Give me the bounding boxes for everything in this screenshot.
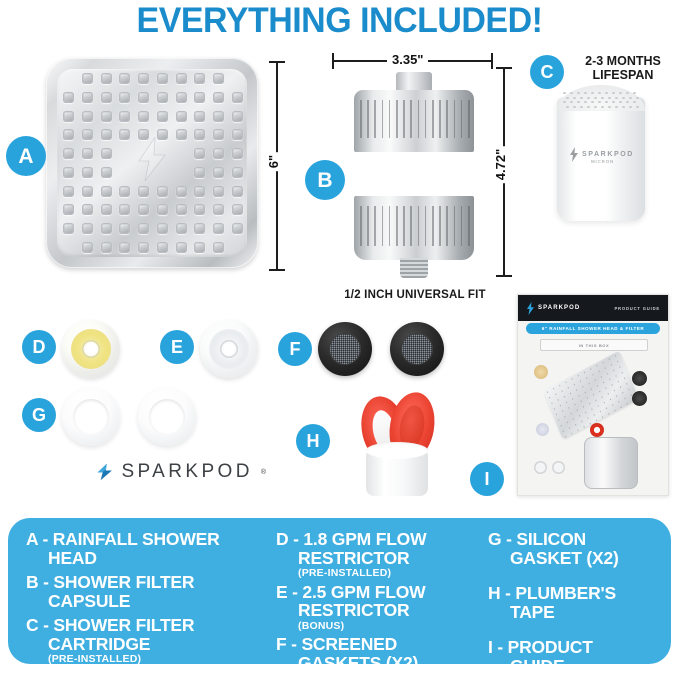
legend-item-key: H - PLUMBER'S: [488, 583, 616, 603]
capsule-fin: [439, 206, 441, 246]
nozzle: [101, 92, 112, 103]
nozzle: [138, 111, 149, 122]
nozzle: [63, 148, 74, 159]
nozzle: [138, 92, 149, 103]
legend-item: D - 1.8 GPM FLOWRESTRICTOR(PRE-INSTALLED…: [276, 530, 488, 580]
nozzle: [157, 223, 168, 234]
nozzle: [119, 186, 130, 197]
rainfall-shower-head-image: [46, 58, 258, 268]
capsule-fin: [418, 100, 420, 138]
callout-badge-a: A: [6, 136, 46, 176]
cartridge-hole: [612, 101, 615, 103]
nozzle: [194, 242, 205, 253]
guide-in-this-box-text: IN THIS BOX: [579, 343, 610, 348]
guide-banner-text: 6" RAINFALL SHOWER HEAD & FILTER: [542, 326, 644, 331]
cartridge-hole: [605, 92, 608, 94]
legend-item: E - 2.5 GPM FLOWRESTRICTOR(BONUS): [276, 583, 488, 633]
cartridge-hole: [594, 97, 597, 99]
nozzle: [63, 92, 74, 103]
cartridge-hole: [573, 97, 576, 99]
capsule-fin: [454, 206, 456, 246]
legend-item-key: G - SILICON: [488, 529, 586, 549]
nozzle: [232, 167, 243, 178]
capsule-fin: [461, 206, 463, 246]
nozzle: [157, 92, 168, 103]
nozzle: [82, 167, 93, 178]
nozzle: [119, 111, 130, 122]
registered-mark: ®: [261, 469, 266, 476]
legend-item-line2: RESTRICTOR: [276, 549, 488, 568]
legend-item-key: D - 1.8 GPM FLOW: [276, 529, 426, 549]
callout-badge-a-label: A: [18, 146, 33, 167]
capsule-fin: [382, 100, 384, 138]
legend-item: F - SCREENEDGASKETS (X2): [276, 635, 488, 672]
capsule-lower-body: [354, 196, 474, 260]
nozzle: [119, 92, 130, 103]
guide-brand-text: SPARKPOD: [538, 305, 580, 311]
nozzle: [213, 73, 224, 84]
capsule-fin: [432, 100, 434, 138]
callout-badge-e-label: E: [171, 338, 183, 356]
legend-item-key: F - SCREENED: [276, 634, 397, 654]
legend-item: I - PRODUCTGUIDE: [488, 638, 668, 675]
nozzle: [194, 73, 205, 84]
cartridge-hole: [584, 101, 587, 103]
guide-in-this-box: IN THIS BOX: [540, 339, 648, 351]
dimension-cap-left: [332, 53, 334, 69]
nozzle: [101, 204, 112, 215]
cartridge-brand-subtext: MICRON: [591, 159, 614, 164]
cartridge-hole: [577, 92, 580, 94]
flow-restrictor-25gpm-image: [200, 320, 258, 378]
cartridge-hole: [626, 101, 629, 103]
capsule-fin: [403, 206, 405, 246]
capsule-fin: [360, 100, 362, 138]
guide-tape-disc: [590, 423, 604, 437]
capsule-fin: [418, 206, 420, 246]
nozzle: [119, 242, 130, 253]
legend-item-line2: RESTRICTOR: [276, 601, 488, 620]
nozzle: [82, 242, 93, 253]
cartridge-hole: [587, 97, 590, 99]
nozzle: [194, 204, 205, 215]
capsule-lower-fins: [354, 196, 474, 260]
guide-header: SPARKPOD PRODUCT GUIDE: [518, 295, 668, 321]
silicon-gasket-2-image: [138, 388, 196, 446]
nozzle: [82, 148, 93, 159]
dimension-cap-bottom: [269, 269, 285, 271]
cartridge-hole: [629, 106, 632, 108]
cartridge-hole: [566, 106, 569, 108]
callout-badge-c: C: [530, 55, 564, 89]
lightning-bolt-icon: [569, 147, 579, 162]
capsule-fin: [403, 100, 405, 138]
screened-gasket-1-image: [318, 322, 372, 376]
nozzle: [176, 242, 187, 253]
cartridge-hole: [626, 92, 629, 94]
nozzle: [213, 223, 224, 234]
cartridge-hole: [563, 101, 566, 103]
dimension-cap-right: [491, 53, 493, 69]
nozzle: [101, 148, 112, 159]
capsule-fin: [374, 206, 376, 246]
capsule-fin: [389, 100, 391, 138]
cartridge-hole: [563, 92, 566, 94]
nozzle: [232, 92, 243, 103]
legend-item-key: A - RAINFALL SHOWER: [26, 529, 220, 549]
cartridge-hole: [591, 92, 594, 94]
capsule-fin: [425, 206, 427, 246]
nozzle: [232, 186, 243, 197]
cartridge-lifespan-note: 2-3 MONTHS LIFESPAN: [568, 54, 678, 83]
capsule-fin: [439, 100, 441, 138]
callout-badge-f: F: [278, 332, 312, 366]
guide-restrictor-disc: [534, 365, 548, 379]
legend-item: C - SHOWER FILTERCARTRIDGE(PRE-INSTALLED…: [26, 616, 276, 666]
legend-item-line2: CARTRIDGE: [26, 635, 276, 654]
callout-badge-i-label: I: [484, 470, 489, 488]
nozzle: [119, 129, 130, 140]
nozzle: [232, 223, 243, 234]
dimension-label-shower-height: 6": [264, 152, 283, 171]
silicon-gasket-1-image: [62, 388, 120, 446]
cartridge-hole: [612, 92, 615, 94]
nozzle: [213, 111, 224, 122]
nozzle: [213, 186, 224, 197]
nozzle: [176, 204, 187, 215]
cartridge-hole: [622, 106, 625, 108]
legend-panel: A - RAINFALL SHOWERHEADB - SHOWER FILTER…: [8, 518, 671, 664]
nozzle: [82, 111, 93, 122]
nozzle: [138, 242, 149, 253]
nozzle: [101, 129, 112, 140]
lifespan-line-2: LIFESPAN: [593, 68, 654, 82]
shower-filter-capsule-image: SPARKPOD: [348, 72, 480, 272]
dimension-label-capsule-width: 3.35": [387, 52, 428, 67]
infographic-canvas: EVERYTHING INCLUDED! A 6" 3.35" SPARK: [0, 0, 679, 672]
legend-item-key: I - PRODUCT: [488, 637, 593, 657]
cartridge-hole: [587, 106, 590, 108]
nozzle: [213, 204, 224, 215]
nozzle: [63, 186, 74, 197]
cartridge-hole: [598, 92, 601, 94]
capsule-fin: [367, 100, 369, 138]
cartridge-hole: [598, 101, 601, 103]
capsule-fin: [432, 206, 434, 246]
legend-item-line2: CAPSULE: [26, 592, 276, 611]
nozzle: [213, 129, 224, 140]
callout-badge-d-label: D: [33, 338, 46, 356]
callout-badge-b-label: B: [317, 170, 332, 191]
nozzle: [194, 223, 205, 234]
nozzle: [157, 186, 168, 197]
legend-item-line2: GASKET (X2): [488, 549, 668, 568]
cartridge-hole: [591, 101, 594, 103]
nozzle: [101, 223, 112, 234]
cartridge-hole: [636, 97, 639, 99]
page-title: EVERYTHING INCLUDED!: [10, 1, 669, 41]
guide-filter-diagram: [584, 437, 638, 489]
cartridge-hole: [615, 97, 618, 99]
guide-bonus-restrictor-disc: [536, 423, 549, 436]
nozzle: [138, 223, 149, 234]
nozzle: [82, 223, 93, 234]
nozzle: [176, 223, 187, 234]
cartridge-hole: [608, 97, 611, 99]
nozzle: [232, 111, 243, 122]
legend-item-line2: GUIDE: [488, 657, 668, 676]
nozzle: [63, 204, 74, 215]
callout-badge-e: E: [160, 330, 194, 364]
guide-silicon-ring-2: [552, 461, 565, 474]
dimension-cap-capsule-top: [496, 67, 512, 69]
nozzle: [101, 167, 112, 178]
nozzle: [176, 73, 187, 84]
capsule-fin: [410, 100, 412, 138]
cartridge-hole: [601, 106, 604, 108]
cartridge-hole: [580, 97, 583, 99]
nozzle: [138, 204, 149, 215]
nozzle: [157, 204, 168, 215]
capsule-fin: [374, 100, 376, 138]
nozzle: [194, 129, 205, 140]
nozzle: [232, 204, 243, 215]
legend-item-key: C - SHOWER FILTER: [26, 615, 194, 635]
nozzle: [232, 148, 243, 159]
guide-header-right-text: PRODUCT GUIDE: [614, 306, 660, 311]
cartridge-hole: [577, 101, 580, 103]
nozzle: [63, 223, 74, 234]
capsule-fin: [461, 100, 463, 138]
cartridge-hole: [615, 106, 618, 108]
nozzle: [82, 129, 93, 140]
shower-filter-cartridge-image: SPARKPOD MICRON: [557, 85, 645, 225]
cartridge-brand-text: SPARKPOD: [582, 151, 634, 158]
nozzle: [82, 204, 93, 215]
cartridge-hole: [570, 92, 573, 94]
nozzle: [194, 92, 205, 103]
capsule-threaded-outlet: [400, 258, 428, 278]
nozzle: [63, 111, 74, 122]
cartridge-hole: [629, 97, 632, 99]
cartridge-hole: [619, 101, 622, 103]
cartridge-hole: [605, 101, 608, 103]
cartridge-hole: [584, 92, 587, 94]
cartridge-hole: [570, 101, 573, 103]
dimension-label-capsule-height: 4.72": [491, 146, 510, 183]
capsule-fin: [396, 100, 398, 138]
nozzle: [119, 223, 130, 234]
restrictor-e-hub: [220, 340, 238, 358]
nozzle: [157, 73, 168, 84]
cartridge-hole: [633, 92, 636, 94]
capsule-fin: [410, 206, 412, 246]
guide-screened-gasket-2: [632, 391, 647, 406]
lifespan-line-1: 2-3 MONTHS: [585, 54, 661, 68]
nozzle: [213, 167, 224, 178]
legend-item-key: B - SHOWER FILTER: [26, 572, 194, 592]
screened-gasket-2-image: [390, 322, 444, 376]
legend-column-2: D - 1.8 GPM FLOWRESTRICTOR(PRE-INSTALLED…: [276, 530, 488, 654]
capsule-upper-body: [354, 90, 474, 152]
cartridge-hole: [580, 106, 583, 108]
legend-column-3: G - SILICONGASKET (X2)H - PLUMBER'STAPEI…: [488, 530, 668, 654]
cartridge-hole: [594, 106, 597, 108]
cartridge-hole: [601, 97, 604, 99]
dimension-cap-capsule-bottom: [496, 275, 512, 277]
legend-item-line2: GASKETS (X2): [276, 654, 488, 673]
callout-badge-f-label: F: [290, 340, 301, 358]
guide-brand-logo: SPARKPOD: [526, 302, 580, 315]
nozzle: [213, 242, 224, 253]
legend-item: A - RAINFALL SHOWERHEAD: [26, 530, 276, 567]
nozzle: [176, 186, 187, 197]
nozzle: [157, 242, 168, 253]
flow-restrictor-18gpm-image: [62, 320, 120, 378]
capsule-fin: [454, 100, 456, 138]
legend-item-line2: TAPE: [488, 603, 668, 622]
callout-badge-g-label: G: [32, 406, 46, 424]
nozzle: [232, 129, 243, 140]
guide-banner: 6" RAINFALL SHOWER HEAD & FILTER: [526, 323, 660, 334]
legend-item-key: E - 2.5 GPM FLOW: [276, 582, 425, 602]
sparkpod-brand-logo: SPARKPOD ®: [96, 455, 266, 489]
capsule-fin: [367, 206, 369, 246]
nozzle: [63, 129, 74, 140]
nozzle: [82, 186, 93, 197]
capsule-inlet: [396, 72, 432, 92]
nozzle: [176, 111, 187, 122]
gasket-mesh-1: [329, 333, 361, 365]
gasket-mesh-2: [401, 333, 433, 365]
callout-badge-i: I: [470, 462, 504, 496]
nozzle: [101, 111, 112, 122]
callout-badge-h: H: [296, 424, 330, 458]
legend-item-line2: HEAD: [26, 549, 276, 568]
capsule-fin: [360, 206, 362, 246]
guide-silicon-ring-1: [534, 461, 547, 474]
nozzle: [157, 111, 168, 122]
legend-item: H - PLUMBER'STAPE: [488, 584, 668, 621]
capsule-fin: [468, 206, 470, 246]
callout-badge-b: B: [305, 160, 345, 200]
nozzle: [101, 73, 112, 84]
nozzle: [194, 111, 205, 122]
nozzle: [101, 186, 112, 197]
capsule-fin: [425, 100, 427, 138]
nozzle: [138, 186, 149, 197]
callout-badge-d: D: [22, 330, 56, 364]
lightning-bolt-icon: [96, 455, 113, 489]
nozzle: [119, 73, 130, 84]
restrictor-d-hub: [82, 340, 100, 358]
nozzle: [119, 204, 130, 215]
nozzle: [213, 148, 224, 159]
capsule-fin: [389, 206, 391, 246]
nozzle: [194, 148, 205, 159]
nozzle: [82, 73, 93, 84]
nozzle: [138, 73, 149, 84]
cartridge-hole: [566, 97, 569, 99]
capsule-fin: [446, 100, 448, 138]
plumbers-tape-image: [348, 388, 440, 496]
legend-column-1: A - RAINFALL SHOWERHEADB - SHOWER FILTER…: [26, 530, 276, 654]
nozzle: [213, 92, 224, 103]
cartridge-holes: [557, 87, 645, 109]
legend-item-note: (PRE-INSTALLED): [26, 653, 276, 666]
lightning-bolt-icon: [526, 302, 535, 315]
nozzle: [176, 92, 187, 103]
nozzle: [101, 242, 112, 253]
legend-item: G - SILICONGASKET (X2): [488, 530, 668, 567]
lightning-bolt-emboss-icon: [135, 137, 169, 181]
nozzle: [194, 186, 205, 197]
dimension-cap-top: [269, 61, 285, 63]
callout-badge-h-label: H: [307, 432, 320, 450]
capsule-fin: [396, 206, 398, 246]
capsule-fin: [468, 100, 470, 138]
cartridge-hole: [633, 101, 636, 103]
capsule-center-band: SPARKPOD: [350, 148, 478, 200]
nozzle: [176, 129, 187, 140]
nozzle: [63, 167, 74, 178]
legend-item-note: (BONUS): [276, 620, 488, 633]
capsule-upper-fins: [354, 90, 474, 152]
legend-item-note: (PRE-INSTALLED): [276, 567, 488, 580]
product-guide-image: SPARKPOD PRODUCT GUIDE 6" RAINFALL SHOWE…: [517, 294, 669, 496]
guide-screened-gasket-1: [632, 371, 647, 386]
sparkpod-brand-text: SPARKPOD: [121, 461, 252, 483]
universal-fit-label: 1/2 INCH UNIVERSAL FIT: [330, 289, 500, 301]
legend-item: B - SHOWER FILTERCAPSULE: [26, 573, 276, 610]
cartridge-hole: [636, 106, 639, 108]
cartridge-hole: [573, 106, 576, 108]
callout-badge-g: G: [22, 398, 56, 432]
cartridge-hole: [608, 106, 611, 108]
capsule-fin: [382, 206, 384, 246]
capsule-fin: [446, 206, 448, 246]
cartridge-hole: [622, 97, 625, 99]
nozzle: [194, 167, 205, 178]
callout-badge-c-label: C: [541, 63, 554, 81]
tape-roll-base: [366, 450, 428, 496]
cartridge-hole: [619, 92, 622, 94]
nozzle: [82, 92, 93, 103]
